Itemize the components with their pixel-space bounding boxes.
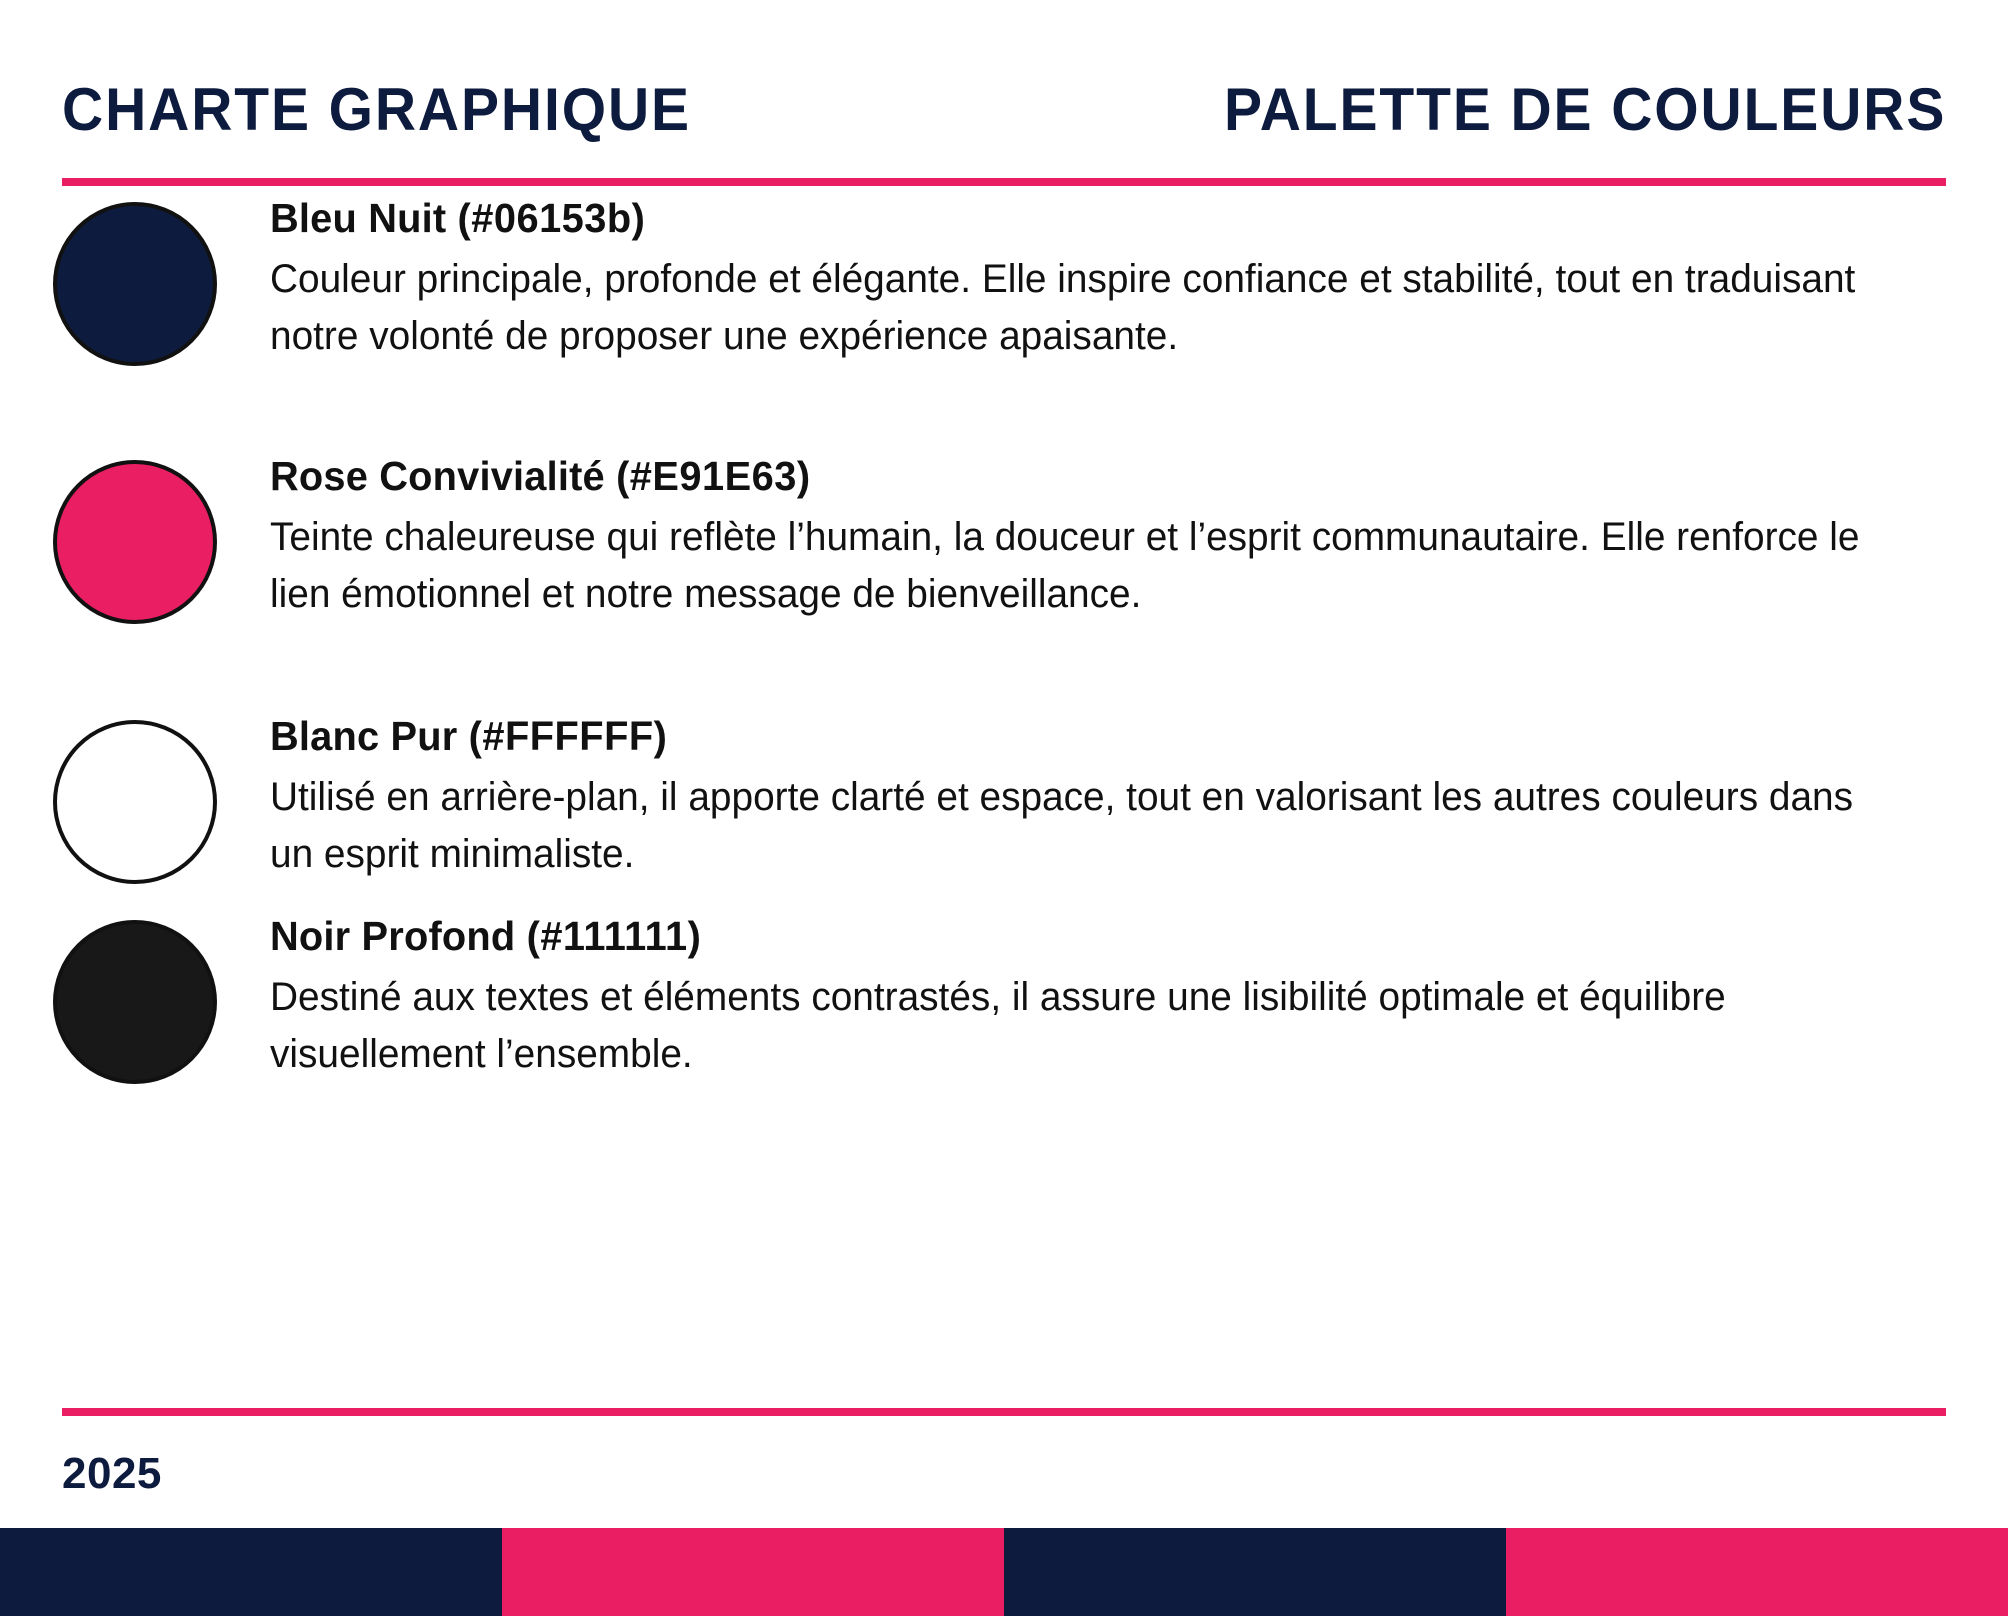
color-name-label: Noir Profond [270,913,515,959]
swatch-cell [0,196,270,366]
color-swatch-circle [53,720,217,884]
palette-item-bleu-nuit: Bleu Nuit (#06153b) Couleur principale, … [0,196,2008,366]
color-hex-label: (#E91E63) [616,453,811,499]
color-hex-label: (#FFFFFF) [469,713,668,759]
color-text-block: Bleu Nuit (#06153b) Couleur principale, … [270,196,2008,365]
palette-item-blanc-pur: Blanc Pur (#FFFFFF) Utilisé en arrière-p… [0,714,2008,884]
palette-item-rose-convivialite: Rose Convivialité (#E91E63) Teinte chale… [0,454,2008,624]
header: CHARTE GRAPHIQUE PALETTE DE COULEURS [62,48,1946,140]
footer-bar-segment [502,1528,1004,1616]
footer-bar-segment [1506,1528,2008,1616]
color-description: Utilisé en arrière-plan, il apporte clar… [270,769,1861,883]
page-title-right: PALETTE DE COULEURS [1224,80,1946,140]
page-title-left: CHARTE GRAPHIQUE [62,80,691,140]
swatch-cell [0,714,270,884]
color-name: Rose Convivialité (#E91E63) [270,454,1898,499]
swatch-cell [0,914,270,1084]
color-name-label: Blanc Pur [270,713,457,759]
color-swatch-circle [53,460,217,624]
divider-bottom [62,1408,1946,1416]
footer-year: 2025 [62,1452,162,1496]
footer-color-bar [0,1528,2008,1616]
color-hex-label: (#111111) [527,913,702,959]
swatch-cell [0,454,270,624]
divider-top [62,178,1946,186]
color-description: Teinte chaleureuse qui reflète l’humain,… [270,509,1861,623]
palette-slide: CHARTE GRAPHIQUE PALETTE DE COULEURS Ble… [0,0,2008,1616]
color-description: Couleur principale, profonde et élégante… [270,251,1861,365]
color-text-block: Rose Convivialité (#E91E63) Teinte chale… [270,454,2008,623]
footer-bar-segment [0,1528,502,1616]
color-name-label: Rose Convivialité [270,453,605,499]
palette-item-noir-profond: Noir Profond (#111111) Destiné aux texte… [0,914,2008,1084]
color-name-label: Bleu Nuit [270,195,446,241]
color-text-block: Noir Profond (#111111) Destiné aux texte… [270,914,2008,1083]
color-text-block: Blanc Pur (#FFFFFF) Utilisé en arrière-p… [270,714,2008,883]
color-swatch-circle [53,202,217,366]
color-name: Bleu Nuit (#06153b) [270,196,1898,241]
color-name: Noir Profond (#111111) [270,914,1898,959]
color-name: Blanc Pur (#FFFFFF) [270,714,1898,759]
footer-bar-segment [1004,1528,1506,1616]
color-description: Destiné aux textes et éléments contrasté… [270,969,1861,1083]
color-swatch-circle [53,920,217,1084]
color-hex-label: (#06153b) [458,195,646,241]
